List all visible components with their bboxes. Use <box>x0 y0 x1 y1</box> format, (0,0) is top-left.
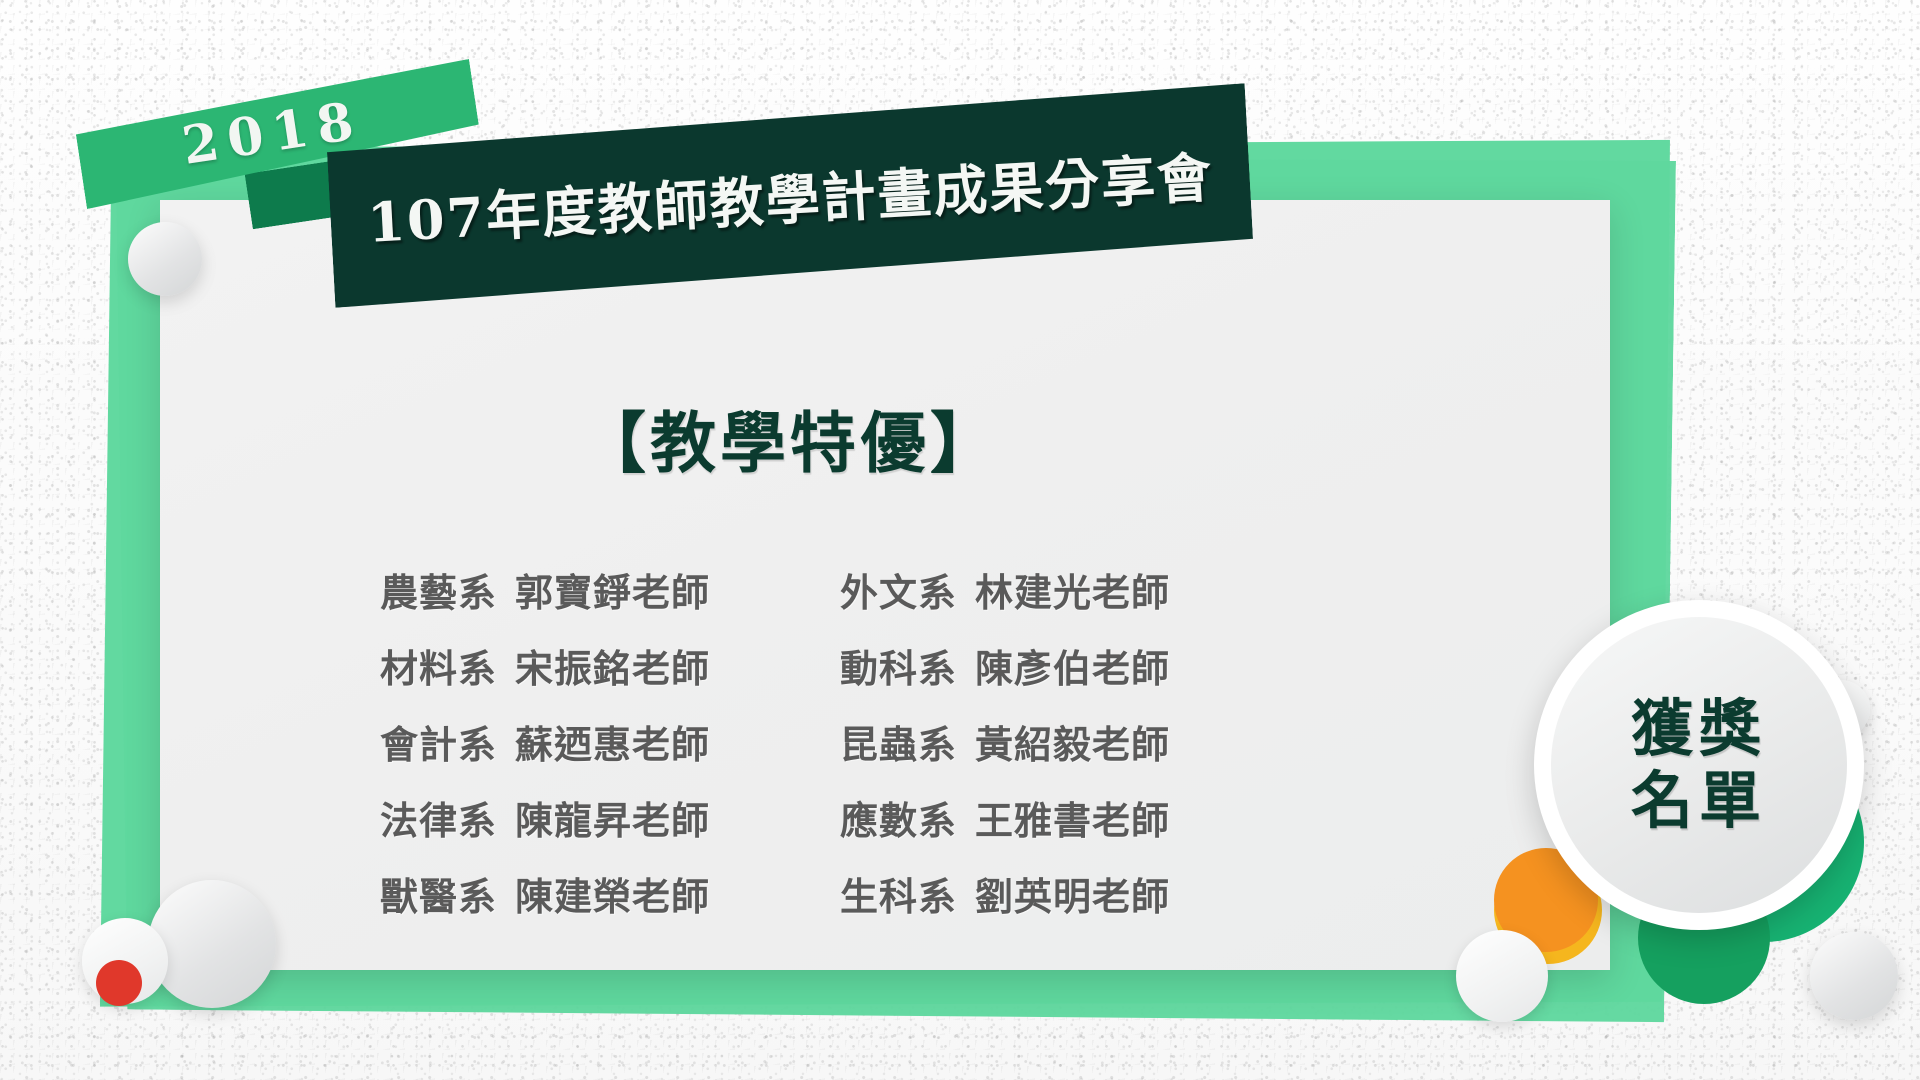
winner-department: 農藝系 <box>380 570 497 615</box>
decorative-circle-top-left <box>128 222 202 296</box>
winner-department: 動科系 <box>840 646 957 691</box>
winner-entry: 生科系劉英明老師 <box>840 864 1300 930</box>
winner-entry: 獸醫系陳建榮老師 <box>380 864 840 930</box>
poster-canvas: 2018 107年度教師教學計畫成果分享會 【教學特優】 農藝系郭寶錚老師外文系… <box>0 0 1920 1080</box>
poster-title: 107年度教師教學計畫成果分享會 <box>365 133 1215 258</box>
badge-line-1: 獲獎 <box>1631 695 1767 763</box>
winner-entry: 動科系陳彥伯老師 <box>840 636 1300 702</box>
winner-name: 陳龍昇老師 <box>515 798 710 843</box>
winner-department: 會計系 <box>380 722 497 767</box>
winner-entry: 外文系林建光老師 <box>840 560 1300 626</box>
winner-name: 宋振銘老師 <box>515 646 710 691</box>
winner-name: 陳彥伯老師 <box>975 646 1170 691</box>
winner-name: 王雅書老師 <box>975 798 1170 843</box>
decorative-blob-red <box>96 960 142 1006</box>
decorative-circle-bottom-right-corner <box>1810 932 1898 1020</box>
winner-entry: 應數系王雅書老師 <box>840 788 1300 854</box>
winner-department: 獸醫系 <box>380 874 497 919</box>
decorative-circle-bottom-left-large <box>148 880 276 1008</box>
winner-name: 劉英明老師 <box>975 874 1170 919</box>
winner-entry: 材料系宋振銘老師 <box>380 636 840 702</box>
winner-name: 郭寶錚老師 <box>515 570 710 615</box>
winner-entry: 法律系陳龍昇老師 <box>380 788 840 854</box>
winner-department: 外文系 <box>840 570 957 615</box>
winner-name: 林建光老師 <box>975 570 1170 615</box>
winner-name: 蘇迺惠老師 <box>515 722 710 767</box>
winner-department: 昆蟲系 <box>840 722 957 767</box>
winner-name: 黃紹毅老師 <box>975 722 1170 767</box>
winner-name: 陳建榮老師 <box>515 874 710 919</box>
winners-list: 農藝系郭寶錚老師外文系林建光老師材料系宋振銘老師動科系陳彥伯老師會計系蘇迺惠老師… <box>380 560 1300 931</box>
winner-department: 應數系 <box>840 798 957 843</box>
winner-department: 法律系 <box>380 798 497 843</box>
award-category-heading: 【教學特優】 <box>160 390 1420 486</box>
winner-entry: 會計系蘇迺惠老師 <box>380 712 840 778</box>
winner-department: 材料系 <box>380 646 497 691</box>
winner-department: 生科系 <box>840 874 957 919</box>
badge-line-2: 名單 <box>1631 767 1767 835</box>
decorative-circle-bottom-right-small <box>1456 930 1548 1022</box>
winner-entry: 昆蟲系黃紹毅老師 <box>840 712 1300 778</box>
award-list-badge: 獲獎 名單 <box>1534 600 1864 930</box>
winner-entry: 農藝系郭寶錚老師 <box>380 560 840 626</box>
award-list-badge-inner: 獲獎 名單 <box>1551 617 1847 913</box>
